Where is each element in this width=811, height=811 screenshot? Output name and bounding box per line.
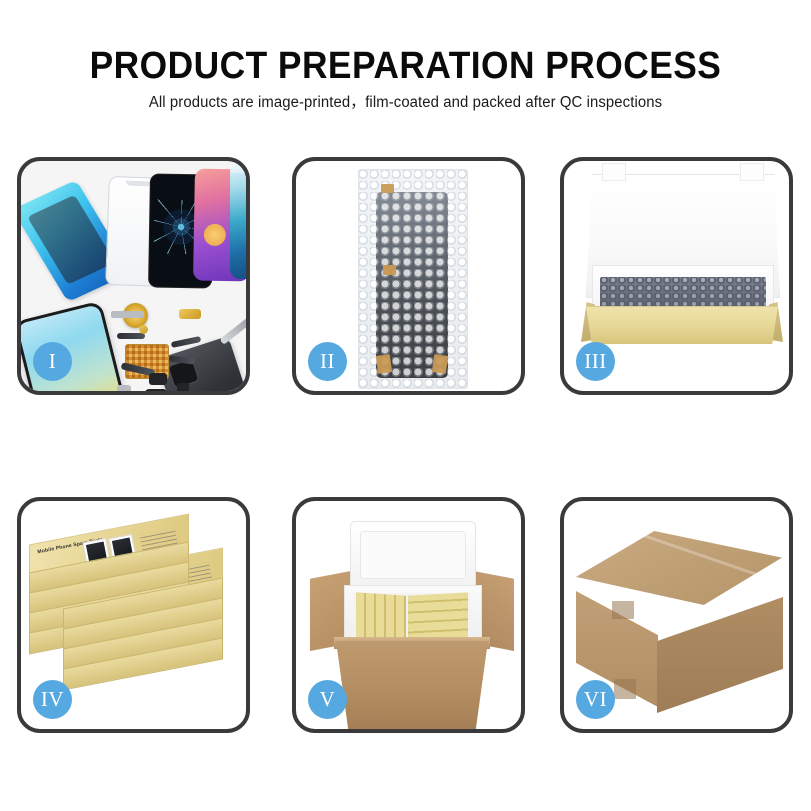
step-badge-1: I	[33, 342, 72, 381]
tape-piece-middle	[383, 265, 396, 275]
small-part-1	[117, 385, 131, 391]
step-badge-2: II	[308, 342, 347, 381]
wrapped-screen-assembly	[376, 192, 448, 378]
step-panel-5: V	[292, 497, 525, 733]
step-panel-2: II	[292, 157, 525, 395]
gold-flex-connector	[179, 309, 201, 319]
speaker-module	[145, 389, 167, 391]
lid-tab-left	[602, 163, 626, 181]
bubble-wrapped-contents	[600, 277, 766, 310]
step-panel-1: I	[17, 157, 250, 395]
step-badge-4: IV	[33, 680, 72, 719]
camera-module	[149, 373, 167, 385]
step-badge-5: V	[308, 680, 347, 719]
step-panel-4: Mobile Phone Spare Parts Mobile Phone Sp…	[17, 497, 250, 733]
step-panel-6: VI	[560, 497, 793, 733]
carton-top-face	[576, 531, 782, 605]
step-panel-3: III	[560, 157, 793, 395]
tape-piece-top	[381, 184, 394, 193]
step-badge-6: VI	[576, 680, 615, 719]
carton-tape-upper	[612, 601, 634, 619]
lid-tab-right	[740, 163, 764, 181]
carton-right-face	[657, 597, 783, 713]
product-preparation-infographic: PRODUCT PREPARATION PROCESS All products…	[0, 0, 811, 811]
tape-piece-bottom-left	[376, 354, 392, 374]
carton-body	[336, 641, 488, 729]
step-badge-3: III	[576, 342, 615, 381]
yellow-box-front	[586, 306, 778, 344]
tweezers-tool	[220, 312, 246, 345]
packed-boxes-left	[356, 592, 406, 641]
connector-strip	[111, 311, 144, 318]
foam-box-lid	[350, 521, 476, 589]
carton-tape-lower	[614, 679, 636, 699]
packed-boxes-right	[408, 592, 468, 641]
battery-connector	[177, 383, 189, 391]
phone-back-housing	[156, 336, 246, 391]
screw-part	[139, 325, 148, 334]
tape-piece-bottom-right	[432, 354, 448, 374]
flex-cable-1	[117, 333, 145, 339]
blue-gradient-phone	[230, 163, 246, 279]
bubble-wrap-bag	[358, 169, 468, 389]
process-steps-grid: I II	[0, 0, 811, 811]
